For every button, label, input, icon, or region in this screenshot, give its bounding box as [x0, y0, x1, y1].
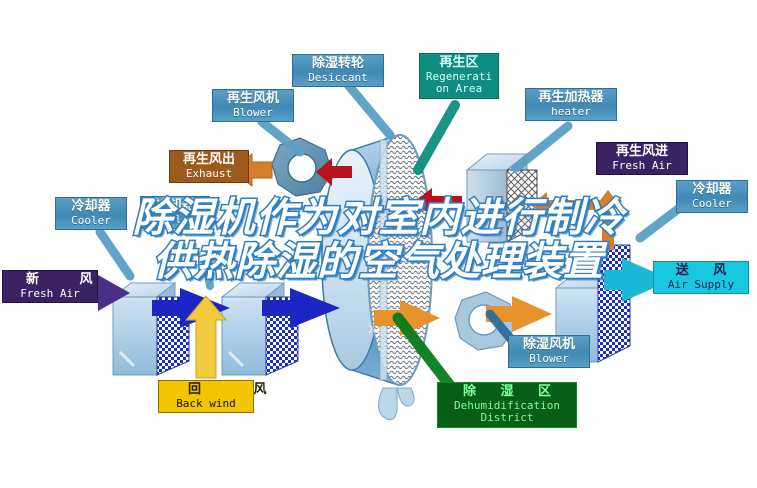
label-air-supply-cn: 送 风: [659, 264, 743, 278]
label-cooler-right[interactable]: 冷却器 Cooler: [676, 180, 748, 213]
label-cooler-right-cn: 冷却器: [682, 183, 742, 197]
label-cooler-mid-cn: 冷却器: [146, 199, 204, 213]
arrow-regen-fresh-vertical: [594, 190, 622, 250]
label-dehumidification-district[interactable]: 除 湿 区 Dehumidification District: [437, 382, 577, 428]
label-back-wind-cn: 回 风: [164, 383, 248, 397]
label-desiccant-wheel[interactable]: 除湿转轮 Desiccant: [292, 54, 384, 87]
label-regeneration-area[interactable]: 再生区 Regenerati on Area: [419, 53, 499, 99]
label-cooler-left-cn: 冷却器: [61, 200, 121, 214]
label-dehumidification-district-en1: Dehumidification: [443, 400, 571, 412]
label-regeneration-area-en2: on Area: [425, 83, 493, 95]
label-regen-fresh-air[interactable]: 再生风进 Fresh Air: [596, 142, 688, 175]
label-dehum-blower[interactable]: 除湿风机 Blower: [508, 335, 590, 368]
label-back-wind[interactable]: 回 风 Back wind: [158, 380, 254, 413]
label-regeneration-area-cn: 再生区: [425, 56, 493, 70]
label-desiccant-wheel-cn: 除湿转轮: [298, 57, 378, 71]
label-cooler-left[interactable]: 冷却器 Cooler: [55, 197, 127, 230]
label-dehum-blower-cn: 除湿风机: [514, 338, 584, 352]
label-regen-heater[interactable]: 再生加热器 heater: [525, 88, 617, 121]
label-dehumidification-district-cn: 除 湿 区: [443, 385, 571, 399]
cooler-block-left: [113, 283, 189, 375]
label-fresh-air[interactable]: 新 风 Fresh Air: [2, 270, 98, 303]
label-regen-blower-en: Blower: [218, 107, 288, 119]
label-regen-fresh-air-en: Fresh Air: [602, 160, 682, 172]
label-exhaust-en: Exhaust: [175, 168, 243, 180]
diagram-canvas: xt: [0, 0, 757, 488]
label-dehum-blower-en: Blower: [514, 353, 584, 365]
label-regen-fresh-air-cn: 再生风进: [602, 145, 682, 159]
label-back-wind-en: Back wind: [164, 398, 248, 410]
label-regen-blower-cn: 再生风机: [218, 92, 288, 106]
label-fresh-air-en: Fresh Air: [8, 288, 92, 300]
label-cooler-mid-en: Cooler: [146, 214, 204, 226]
label-cooler-right-en: Cooler: [682, 198, 742, 210]
regen-heater-block: [467, 154, 537, 242]
label-dehumidification-district-en2: District: [443, 412, 571, 424]
label-exhaust[interactable]: 再生风出 Exhaust: [169, 150, 249, 183]
label-cooler-mid[interactable]: 冷却器 Cooler: [140, 196, 210, 229]
label-regen-heater-en: heater: [531, 106, 611, 118]
label-fresh-air-cn: 新 风: [8, 273, 92, 287]
label-exhaust-cn: 再生风出: [175, 153, 243, 167]
label-air-supply[interactable]: 送 风 Air Supply: [653, 261, 749, 294]
label-regeneration-area-en1: Regenerati: [425, 71, 493, 83]
label-desiccant-wheel-en: Desiccant: [298, 72, 378, 84]
cooler-block-mid: [222, 283, 298, 375]
label-regen-blower[interactable]: 再生风机 Blower: [212, 89, 294, 122]
label-regen-heater-cn: 再生加热器: [531, 91, 611, 105]
label-cooler-left-en: Cooler: [61, 215, 121, 227]
label-air-supply-en: Air Supply: [659, 279, 743, 291]
